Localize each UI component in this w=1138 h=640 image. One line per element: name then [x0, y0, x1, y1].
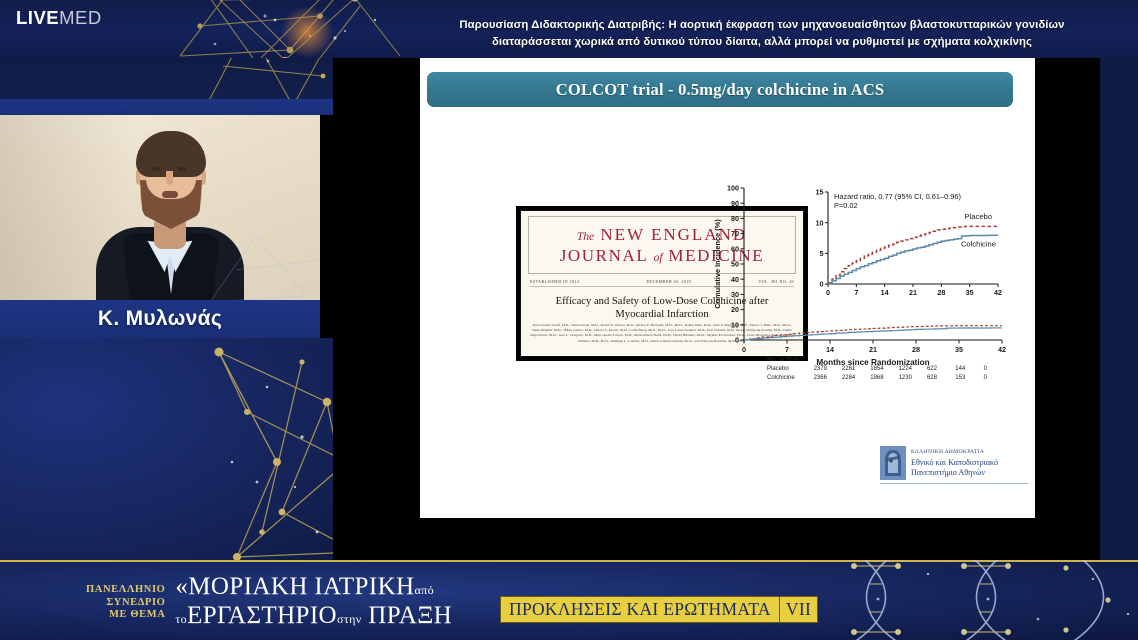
- banner-headline-stin: στην: [337, 612, 362, 626]
- banner-headline-apo: από: [414, 583, 434, 597]
- risk-row-value: 1854: [870, 364, 898, 373]
- risk-table-grid: Placebo23792261185412246221440Colchicine…: [767, 364, 1012, 382]
- svg-text:14: 14: [881, 288, 889, 297]
- athena-seal-icon: [880, 446, 906, 480]
- slide-title-bar: COLCOT trial - 0.5mg/day colchicine in A…: [427, 72, 1013, 107]
- risk-row-value: 628: [927, 373, 955, 382]
- logo-med-text: MED: [59, 7, 102, 28]
- svg-text:40: 40: [731, 275, 739, 284]
- nose: [166, 171, 173, 185]
- risk-row-value: 1868: [870, 373, 898, 382]
- hair-shading: [138, 151, 204, 173]
- legend-colchicine: Colchicine: [961, 240, 996, 249]
- svg-text:35: 35: [966, 288, 974, 297]
- presentation-title-line1: Παρουσίαση Διδακτορικής Διατριβής: Η αορ…: [392, 17, 1132, 34]
- banner-kicker-line1: ΠΑΝΕΛΛΗΝΙΟ: [86, 584, 165, 597]
- presentation-title: Παρουσίαση Διδακτορικής Διατριβής: Η αορ…: [392, 17, 1132, 51]
- chart-annotation-1: P=0.02: [834, 201, 858, 210]
- risk-row-value: 1230: [899, 373, 927, 382]
- risk-row-value: 153: [955, 373, 983, 382]
- svg-text:50: 50: [731, 260, 739, 269]
- nejm-date-text: DECEMBER 26, 2019: [647, 279, 691, 284]
- svg-text:21: 21: [909, 288, 917, 297]
- risk-row-value: 2284: [842, 373, 870, 382]
- svg-text:0: 0: [820, 280, 824, 289]
- banner-kicker-line2: ΣΥΝΕΔΡΙΟ: [86, 597, 165, 610]
- presentation-title-line2: διαταράσσεται χωρικά από δυτικού τύπου δ…: [392, 34, 1132, 51]
- svg-text:28: 28: [937, 288, 945, 297]
- banner-headline-to: το: [175, 612, 187, 626]
- webcast-stage: LIVEMED Παρουσίαση Διδακτορικής Διατριβή…: [0, 0, 1138, 640]
- risk-row-value: 2261: [842, 364, 870, 373]
- svg-text:28: 28: [912, 345, 920, 354]
- banner-kicker: ΠΑΝΕΛΛΗΝΙΟ ΣΥΝΕΔΡΙΟ ΜΕ ΘΕΜΑ: [86, 584, 165, 622]
- nejm-of-word: of: [654, 252, 663, 264]
- eye-right: [178, 167, 186, 171]
- banner-headline-line1: «ΜΟΡΙΑΚΗ ΙΑΤΡΙΚΗαπό: [175, 574, 452, 603]
- risk-row-value: 2366: [814, 373, 842, 382]
- banner-headline-praxi: ΠΡΑΞΗ: [368, 602, 452, 629]
- eye-left: [152, 167, 160, 171]
- svg-text:7: 7: [854, 288, 858, 297]
- speaker-name-bar: Κ. Μυλωνάς: [0, 300, 320, 338]
- svg-text:35: 35: [955, 345, 963, 354]
- logo-live-text: LIVE: [16, 7, 59, 28]
- svg-text:21: 21: [869, 345, 877, 354]
- banner-top-gold-line: [0, 560, 1138, 562]
- svg-text:14: 14: [826, 345, 834, 354]
- decorative-network-graphic-4: [207, 342, 333, 560]
- risk-row-label: Placebo: [767, 364, 814, 373]
- number-at-risk-table: No. at Risk Placebo237922611854122462214…: [767, 356, 1012, 382]
- slide-title-text: COLCOT trial - 0.5mg/day colchicine in A…: [556, 80, 884, 100]
- svg-text:90: 90: [731, 199, 739, 208]
- decorative-network-graphic-2: [215, 0, 405, 58]
- svg-text:10: 10: [731, 320, 739, 329]
- banner-headline-main2: ΕΡΓΑΣΤΗΡΙΟ: [187, 602, 337, 629]
- risk-row-label: Colchicine: [767, 373, 814, 382]
- risk-row-value: 622: [927, 364, 955, 373]
- university-line1: ΕΛΛΗΝΙΚΗ ΔΗΜΟΚΡΑΤΙΑ: [911, 447, 998, 458]
- chart-annotation-0: Hazard ratio, 0.77 (95% CI, 0.61–0.96): [834, 192, 961, 201]
- speaker-video-tile[interactable]: [0, 115, 320, 300]
- decorative-network-graphic: [170, 0, 370, 58]
- kaplan-meier-chart: 0102030405060708090100071421283542Months…: [710, 180, 1010, 380]
- university-of-athens-logo: ΕΛΛΗΝΙΚΗ ΔΗΜΟΚΡΑΤΙΑ Εθνικό και Καποδιστρ…: [880, 440, 1028, 486]
- mouth: [162, 191, 178, 198]
- svg-text:30: 30: [731, 290, 739, 299]
- svg-text:10: 10: [816, 218, 824, 227]
- banner-headline-line2: τοΕΡΓΑΣΤΗΡΙΟστην ΠΡΑΞΗ: [175, 603, 452, 632]
- banner-headline-main1: «ΜΟΡΙΑΚΗ ΙΑΤΡΙΚΗ: [175, 573, 414, 600]
- screen-share-area[interactable]: COLCOT trial - 0.5mg/day colchicine in A…: [333, 58, 1100, 520]
- svg-text:0: 0: [826, 288, 830, 297]
- dna-helix-graphic: [808, 560, 1138, 640]
- speaker-name-text: Κ. Μυλωνάς: [98, 307, 222, 331]
- left-decorative-panel: [0, 338, 333, 560]
- university-logo-underline: [880, 483, 1028, 484]
- upper-left-decorative-band: [0, 58, 333, 115]
- nejm-the-word: The: [577, 231, 594, 243]
- main-curve-colchicine: [744, 328, 1002, 340]
- svg-text:7: 7: [785, 345, 789, 354]
- top-header-bar: LIVEMED Παρουσίαση Διδακτορικής Διατριβή…: [0, 0, 1138, 58]
- banner-headline: «ΜΟΡΙΑΚΗ ΙΑΤΡΙΚΗαπό τοΕΡΓΑΣΤΗΡΙΟστην ΠΡΑ…: [175, 574, 452, 632]
- banner-kicker-line3: ΜΕ ΘΕΜΑ: [86, 609, 165, 622]
- livemed-logo: LIVEMED: [16, 7, 102, 29]
- kaplan-meier-svg: 0102030405060708090100071421283542Months…: [710, 180, 1010, 380]
- presentation-slide: COLCOT trial - 0.5mg/day colchicine in A…: [420, 58, 1035, 518]
- svg-text:42: 42: [998, 345, 1006, 354]
- nejm-journal-text: JOURNAL: [560, 246, 648, 265]
- university-logo-text: ΕΛΛΗΝΙΚΗ ΔΗΜΟΚΡΑΤΙΑ Εθνικό και Καποδιστρ…: [911, 447, 998, 479]
- eyebrow-right: [176, 161, 188, 164]
- svg-text:80: 80: [731, 214, 739, 223]
- banner-session-badge: ΠΡΟΚΛΗΣΕΙΣ ΚΑΙ ΕΡΩΤΗΜΑΤΑ VII: [500, 596, 818, 623]
- svg-text:0: 0: [742, 345, 746, 354]
- svg-text:15: 15: [816, 188, 824, 197]
- risk-row-value: 1224: [899, 364, 927, 373]
- svg-text:0: 0: [735, 336, 739, 345]
- banner-session-title: ΠΡΟΚΛΗΣΕΙΣ ΚΑΙ ΕΡΩΤΗΜΑΤΑ: [501, 597, 779, 622]
- risk-row-value: 2379: [814, 364, 842, 373]
- eyebrow-left: [150, 161, 162, 164]
- svg-text:20: 20: [731, 305, 739, 314]
- upper-left-accent-strip: [0, 99, 333, 115]
- speaker-portrait: [88, 121, 248, 300]
- banner-left-text-group: ΠΑΝΕΛΛΗΝΙΟ ΣΥΝΕΔΡΙΟ ΜΕ ΘΕΜΑ «ΜΟΡΙΑΚΗ ΙΑΤ…: [86, 574, 452, 632]
- risk-row-value: 144: [955, 364, 983, 373]
- svg-text:100: 100: [727, 184, 739, 193]
- svg-text:42: 42: [994, 288, 1002, 297]
- legend-placebo: Placebo: [965, 212, 992, 221]
- risk-table-row: Colchicine23662284186812306281530: [767, 373, 1012, 382]
- svg-text:60: 60: [731, 244, 739, 253]
- svg-text:5: 5: [820, 249, 824, 258]
- university-line3: Πανεπιστήμιο Αθηνών: [911, 468, 998, 479]
- risk-table-heading: No. at Risk: [767, 356, 1012, 363]
- risk-table-row: Placebo23792261185412246221440: [767, 364, 1012, 373]
- university-line2: Εθνικό και Καποδιστριακό: [911, 458, 998, 469]
- nejm-established-text: ESTABLISHED IN 1812: [530, 279, 579, 284]
- right-side-filler: [1100, 58, 1138, 560]
- risk-row-value: 0: [984, 364, 1012, 373]
- risk-row-value: 0: [984, 373, 1012, 382]
- banner-session-number: VII: [779, 597, 817, 622]
- svg-text:Cumulative Incidence (%): Cumulative Incidence (%): [713, 219, 722, 309]
- svg-text:70: 70: [731, 229, 739, 238]
